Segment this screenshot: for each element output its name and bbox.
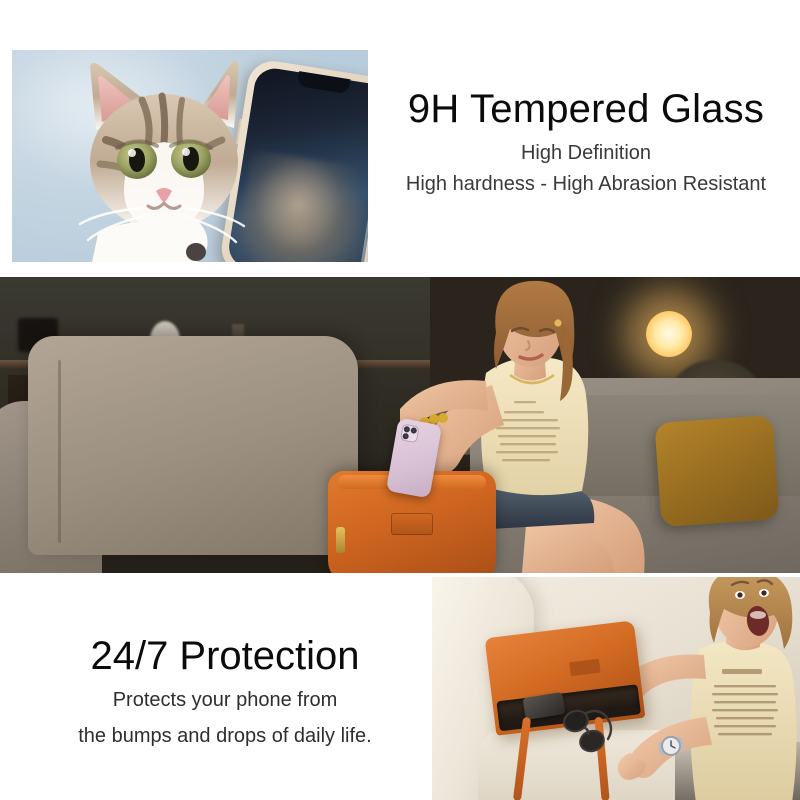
camera-lens	[410, 427, 417, 434]
feature-subtitle-high-definition: High Definition	[384, 138, 788, 169]
handbag-logo-tag	[391, 513, 433, 535]
couch-cushion-left	[28, 336, 358, 555]
phone-camera-module	[400, 424, 420, 444]
cushion-seam	[58, 360, 61, 544]
camera-lens	[402, 433, 409, 440]
product-feature-infographic: 9H Tempered Glass High Definition High h…	[0, 0, 800, 800]
feature-subtitle-protects: Protects your phone from	[30, 684, 420, 716]
feature-subtitle-hardness: High hardness - High Abrasion Resistant	[384, 169, 788, 200]
feature-title-tempered-glass: 9H Tempered Glass	[384, 86, 788, 132]
feature-block-protection: 24/7 Protection Protects your phone from…	[30, 632, 420, 752]
spilling-sunglasses	[560, 705, 626, 755]
feature-subtitle-bumps: the bumps and drops of daily life.	[30, 720, 420, 752]
feature-title-protection: 24/7 Protection	[30, 632, 420, 680]
photo-cat-with-phone	[12, 50, 368, 262]
kitten-illustration	[46, 56, 278, 262]
feature-block-tempered-glass: 9H Tempered Glass High Definition High h…	[384, 86, 788, 200]
camera-lens	[403, 426, 410, 433]
handbag-zipper-pull	[336, 527, 345, 553]
tote-logo-tag	[569, 659, 600, 677]
photo-bag-drop	[432, 577, 800, 800]
photo-living-room-sunset	[0, 277, 800, 573]
